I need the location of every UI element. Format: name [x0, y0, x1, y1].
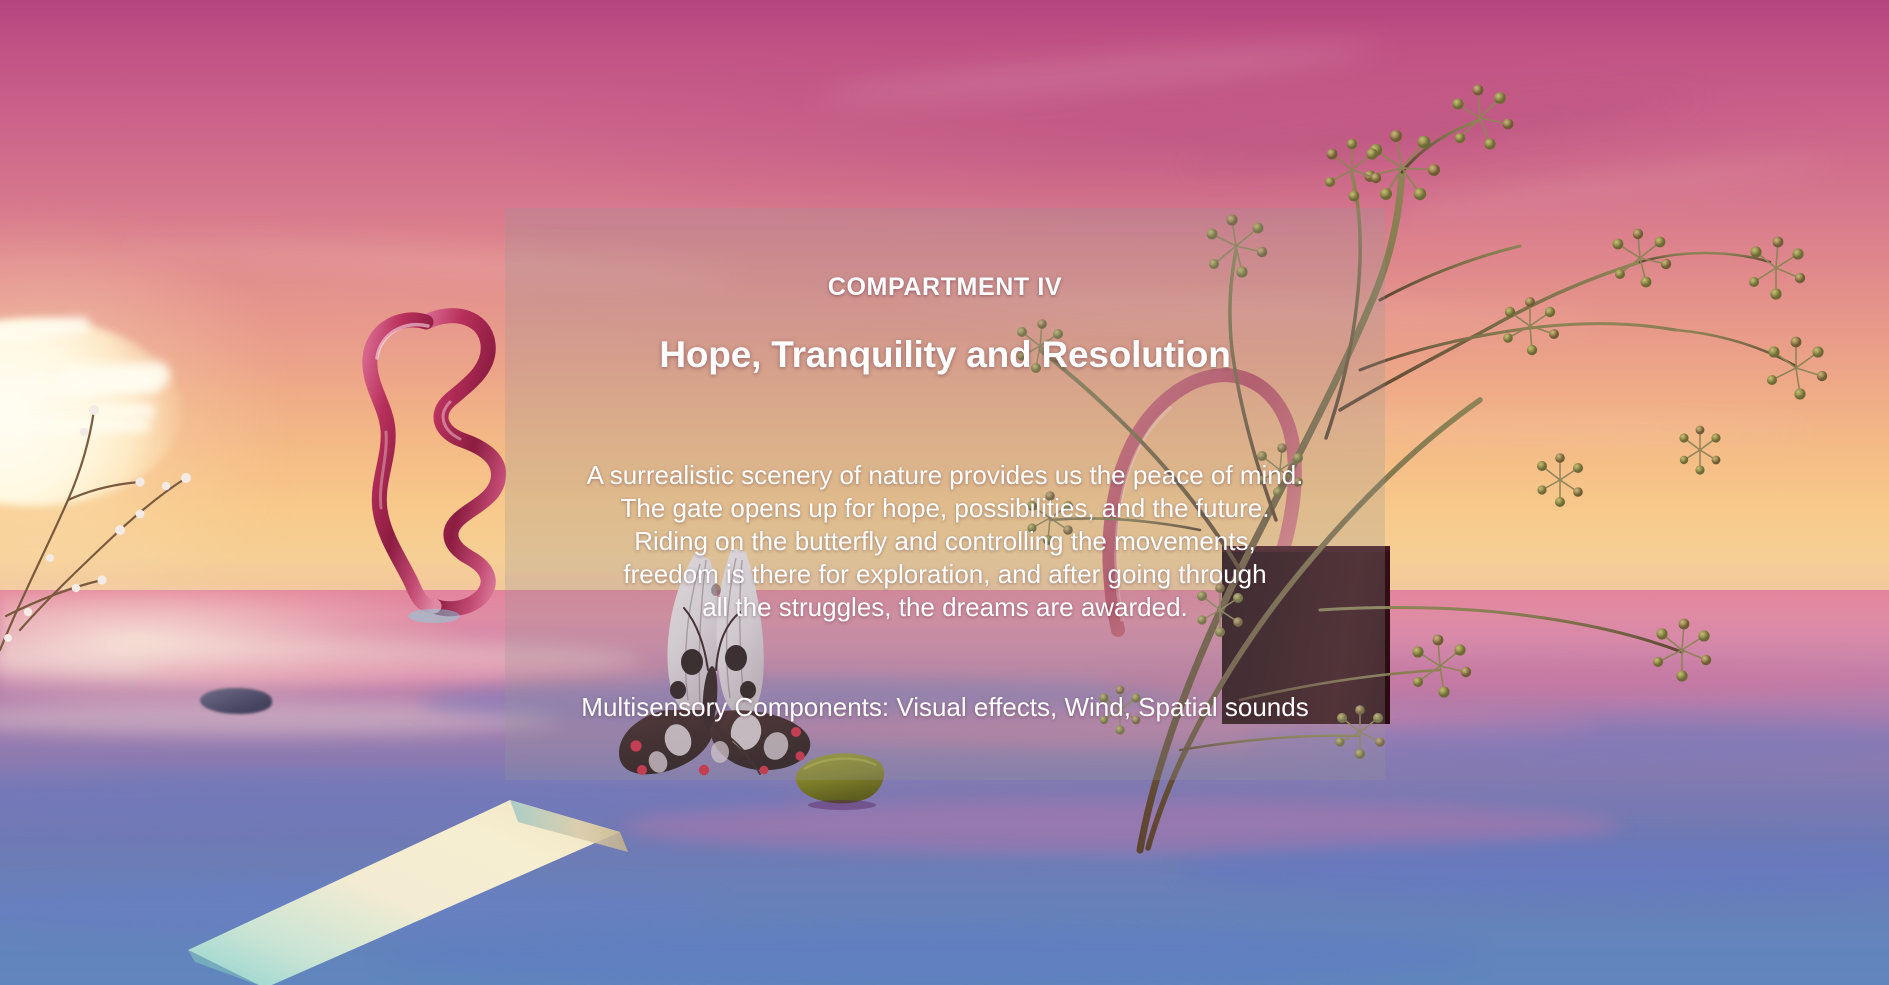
compartment-label: COMPARTMENT IV [828, 274, 1062, 302]
multisensory-components-note: Multisensory Components: Visual effects,… [581, 691, 1308, 724]
description-paragraph: A surrealistic scenery of nature provide… [587, 459, 1304, 624]
rock [200, 688, 272, 714]
plank [60, 780, 800, 985]
description-line: The gate opens up for hope, possibilitie… [587, 492, 1304, 525]
description-line: freedom is there for exploration, and af… [587, 558, 1304, 591]
description-line: all the struggles, the dreams are awarde… [587, 591, 1304, 624]
page-title: Hope, Tranquility and Resolution [659, 334, 1230, 377]
info-overlay-text: COMPARTMENT IV Hope, Tranquility and Res… [505, 208, 1385, 780]
description-line: A surrealistic scenery of nature provide… [587, 459, 1304, 492]
scene-canvas: COMPARTMENT IV Hope, Tranquility and Res… [0, 0, 1889, 985]
description-line: Riding on the butterfly and controlling … [587, 525, 1304, 558]
branch-left [0, 380, 290, 640]
